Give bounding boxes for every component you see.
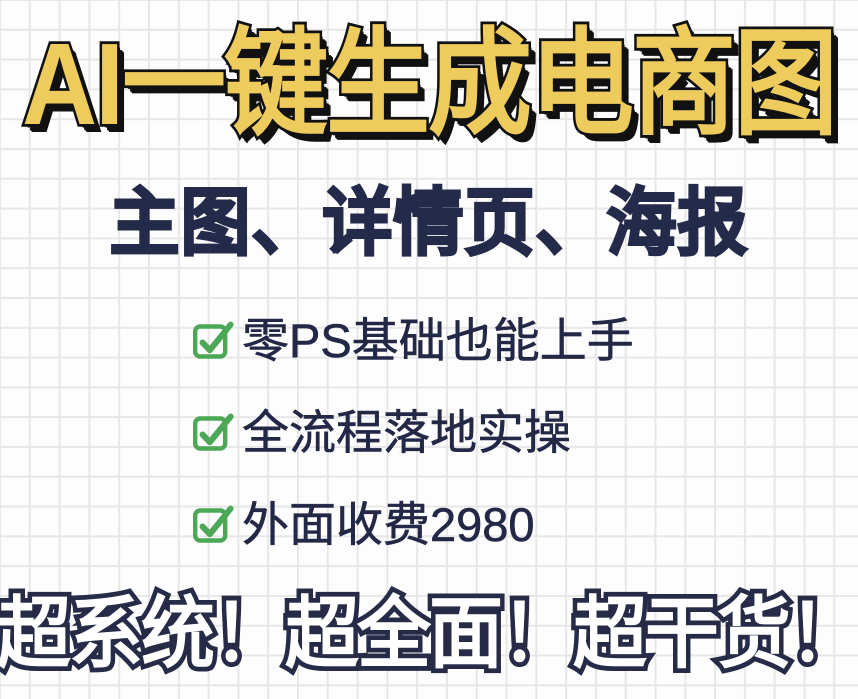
page-subtitle: 主图、详情页、海报 xyxy=(110,186,749,260)
poster-subtitle-container: 主图、详情页、海报 xyxy=(0,182,858,264)
page-title: AI一键生成电商图 xyxy=(22,27,836,143)
poster-title-container: AI一键生成电商图 xyxy=(0,22,858,148)
list-item: 零PS基础也能上手 xyxy=(192,302,752,378)
check-box-icon xyxy=(192,504,234,546)
promo-banner-text: 超系统！超全面！超干货！ xyxy=(0,595,858,673)
poster-banner-container: 超系统！超全面！超干货！ xyxy=(0,586,858,682)
promo-poster: AI一键生成电商图 主图、详情页、海报 零PS基础也能上手 全流程落地实操 xyxy=(0,0,858,699)
list-item: 外面收费2980 xyxy=(192,486,752,562)
list-item: 全流程落地实操 xyxy=(192,394,752,470)
check-box-icon xyxy=(192,320,234,362)
list-item-label: 零PS基础也能上手 xyxy=(242,317,634,364)
list-item-label: 外面收费2980 xyxy=(242,501,535,548)
check-box-icon xyxy=(192,412,234,454)
feature-list: 零PS基础也能上手 全流程落地实操 外面收费2980 xyxy=(192,302,752,578)
list-item-label: 全流程落地实操 xyxy=(242,409,571,456)
